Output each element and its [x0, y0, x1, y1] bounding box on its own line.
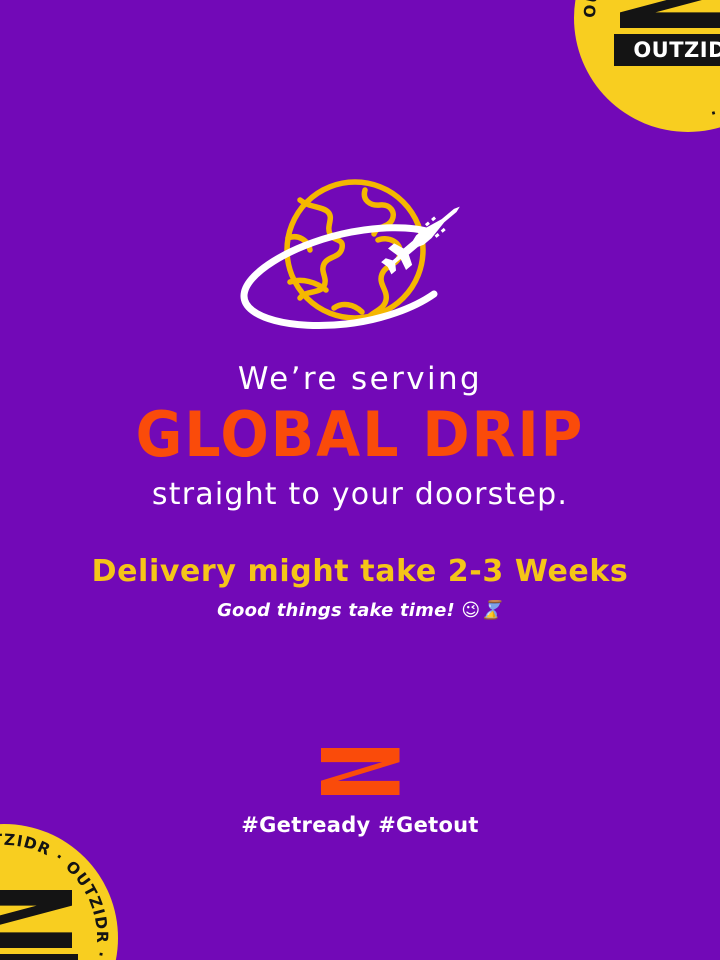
copy-block: We’re serving GLOBAL DRIP straight to yo… [0, 362, 720, 621]
badge-wordmark: OUTZIDR [0, 954, 78, 960]
outzidr-z-logo-icon [321, 748, 400, 795]
badge-wordmark: OUTZIDR [614, 34, 720, 66]
badge-z-mark-icon [0, 890, 72, 948]
tagline-text: Good things take time! 😉⌛ [0, 600, 720, 621]
footer-brand-block: #Getready #Getout [0, 748, 720, 837]
poster-canvas: OUTZIDR · OUTZIDR · OUTZIDR · OUTZIDR · … [0, 0, 720, 960]
hashtags-text: #Getready #Getout [241, 813, 479, 837]
globe-airplane-illustration [230, 178, 490, 348]
headline-text: GLOBAL DRIP [0, 404, 720, 466]
subline-text: straight to your doorstep. [0, 478, 720, 513]
delivery-notice-text: Delivery might take 2-3 Weeks [0, 555, 720, 590]
outzidr-badge-bottom-left: OUTZIDR · OUTZIDR · OUTZIDR · OUTZIDR · … [0, 824, 118, 960]
outzidr-badge-top-right: OUTZIDR · OUTZIDR · OUTZIDR · OUTZIDR · … [574, 0, 720, 132]
badge-core-top-right: OUTZIDR [613, 0, 720, 66]
badge-core-bottom-left: OUTZIDR [0, 890, 79, 960]
eyebrow-text: We’re serving [0, 362, 720, 396]
badge-z-mark-icon [620, 0, 720, 28]
